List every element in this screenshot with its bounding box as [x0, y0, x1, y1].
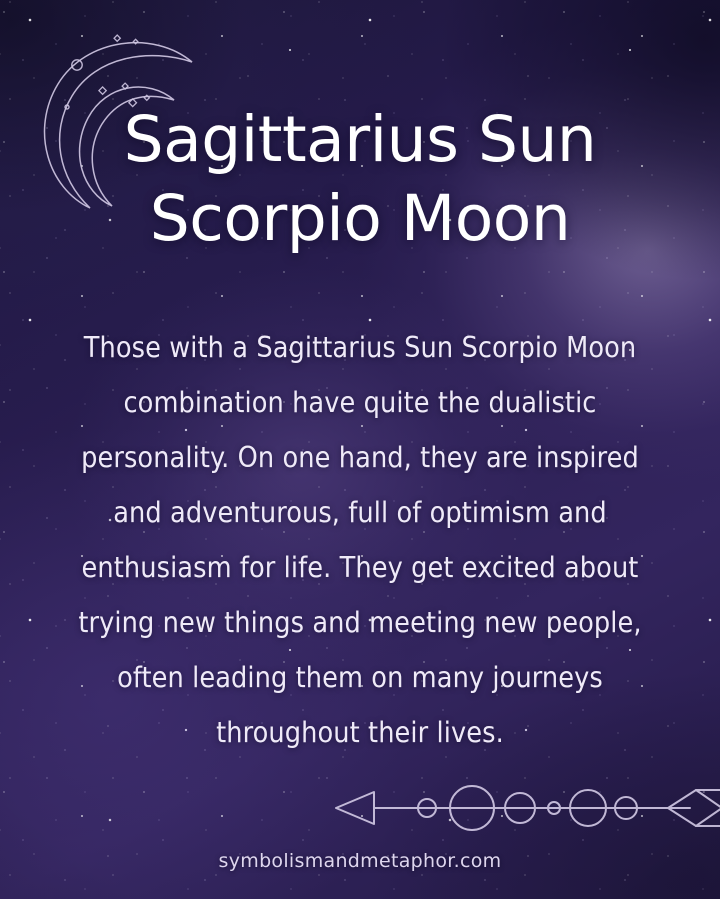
body-line: personality. On one hand, they are inspi…: [32, 430, 688, 485]
body-line: Those with a Sagittarius Sun Scorpio Moo…: [32, 320, 688, 375]
body-line: throughout their lives.: [32, 705, 688, 760]
title-line-1: Sagittarius Sun: [0, 100, 720, 179]
body-line: and adventurous, full of optimism and: [32, 485, 688, 540]
astrology-quote-poster: Sagittarius Sun Scorpio Moon Those with …: [0, 0, 720, 899]
description-paragraph: Those with a Sagittarius Sun Scorpio Moo…: [32, 320, 688, 760]
body-line: enthusiasm for life. They get excited ab…: [32, 540, 688, 595]
body-line: combination have quite the dualistic: [32, 375, 688, 430]
body-line: often leading them on many journeys: [32, 650, 688, 705]
title-line-2: Scorpio Moon: [0, 179, 720, 258]
body-line: trying new things and meeting new people…: [32, 595, 688, 650]
page-title: Sagittarius Sun Scorpio Moon: [0, 100, 720, 258]
arrow-divider-icon: [330, 778, 720, 838]
site-url-footer: symbolismandmetaphor.com: [0, 850, 720, 872]
